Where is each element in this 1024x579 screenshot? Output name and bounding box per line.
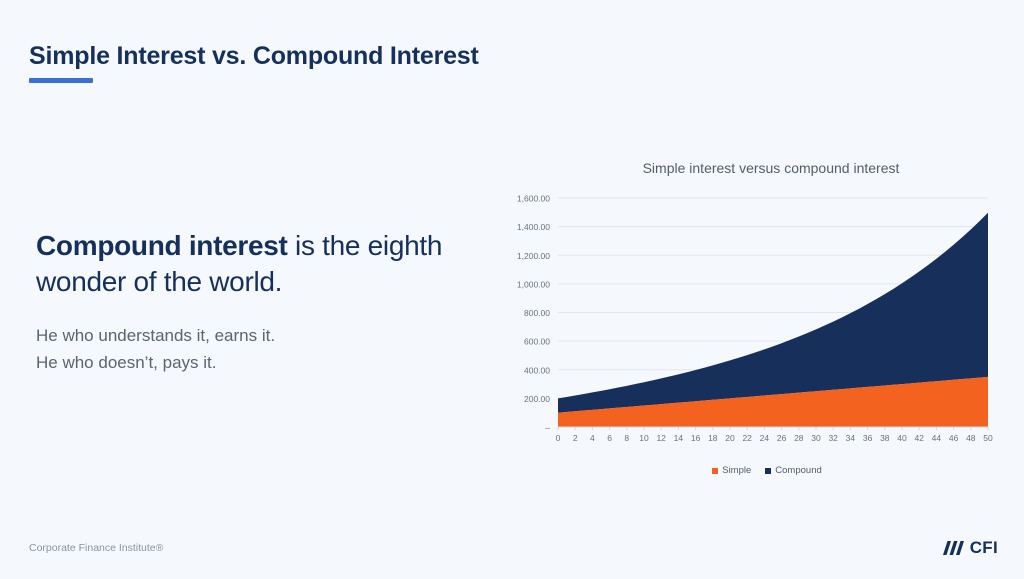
x-axis-tick-label: 46 [949, 433, 959, 443]
x-axis-tick-label: 4 [590, 433, 595, 443]
x-axis-tick-label: 36 [863, 433, 873, 443]
y-axis-tick-label: – [545, 423, 550, 433]
legend-swatch-simple [712, 468, 718, 474]
x-axis-tick-label: 14 [674, 433, 684, 443]
y-axis-tick-label: 600.00 [524, 337, 550, 347]
footer-credit: Corporate Finance Institute® [29, 542, 163, 554]
copy-block: Compound interest is the eighth wonder o… [36, 228, 456, 376]
cfi-logo: CFI [942, 538, 998, 558]
x-axis-tick-label: 30 [811, 433, 821, 443]
headline-strong: Compound interest [36, 230, 288, 261]
legend-label: Compound [775, 465, 821, 476]
legend-swatch-compound [765, 468, 771, 474]
y-axis-tick-label: 1,400.00 [517, 222, 550, 232]
chart-canvas: –200.00400.00600.00800.001,000.001,200.0… [500, 190, 1000, 455]
x-axis-tick-label: 2 [573, 433, 578, 443]
stacked-area-chart: –200.00400.00600.00800.001,000.001,200.0… [500, 190, 1000, 455]
x-axis-tick-label: 38 [880, 433, 890, 443]
subcopy-line-1: He who understands it, earns it. [36, 322, 456, 349]
y-axis-tick-label: 800.00 [524, 308, 550, 318]
x-axis-tick-label: 12 [656, 433, 666, 443]
x-axis-tick-label: 22 [742, 433, 752, 443]
slide-header: Simple Interest vs. Compound Interest [29, 42, 479, 83]
x-axis-tick-label: 32 [828, 433, 838, 443]
title-accent-underline [29, 78, 93, 83]
chart-legend: SimpleCompound [500, 465, 1000, 476]
x-axis-tick-label: 16 [691, 433, 701, 443]
x-axis-tick-label: 44 [932, 433, 942, 443]
chart-title: Simple interest versus compound interest [500, 160, 1000, 176]
x-axis-tick-label: 50 [983, 433, 993, 443]
x-axis-tick-label: 10 [639, 433, 649, 443]
x-axis-tick-label: 18 [708, 433, 718, 443]
x-axis-tick-label: 42 [914, 433, 924, 443]
chart-block: Simple interest versus compound interest… [500, 160, 1000, 485]
y-axis-tick-label: 400.00 [524, 365, 550, 375]
headline: Compound interest is the eighth wonder o… [36, 228, 456, 300]
x-axis-tick-label: 34 [846, 433, 856, 443]
legend-item-compound[interactable]: Compound [765, 465, 821, 476]
slide-root: Simple Interest vs. Compound Interest Co… [0, 0, 1024, 579]
x-axis-tick-label: 26 [777, 433, 787, 443]
y-axis-tick-label: 200.00 [524, 394, 550, 404]
cfi-logo-word: CFI [970, 538, 998, 558]
y-axis-tick-label: 1,600.00 [517, 194, 550, 204]
x-axis-tick-label: 8 [624, 433, 629, 443]
x-axis-tick-label: 6 [607, 433, 612, 443]
legend-item-simple[interactable]: Simple [712, 465, 751, 476]
page-title: Simple Interest vs. Compound Interest [29, 42, 479, 71]
y-axis-tick-label: 1,200.00 [517, 251, 550, 261]
y-axis-tick-label: 1,000.00 [517, 279, 550, 289]
x-axis-tick-label: 28 [794, 433, 804, 443]
subcopy: He who understands it, earns it. He who … [36, 322, 456, 376]
x-axis-tick-label: 40 [897, 433, 907, 443]
x-axis-tick-label: 48 [966, 433, 976, 443]
subcopy-line-2: He who doesn’t, pays it. [36, 349, 456, 376]
x-axis-tick-label: 20 [725, 433, 735, 443]
legend-label: Simple [722, 465, 751, 476]
x-axis-tick-label: 0 [556, 433, 561, 443]
x-axis-tick-label: 24 [760, 433, 770, 443]
cfi-bars-icon [942, 540, 966, 556]
